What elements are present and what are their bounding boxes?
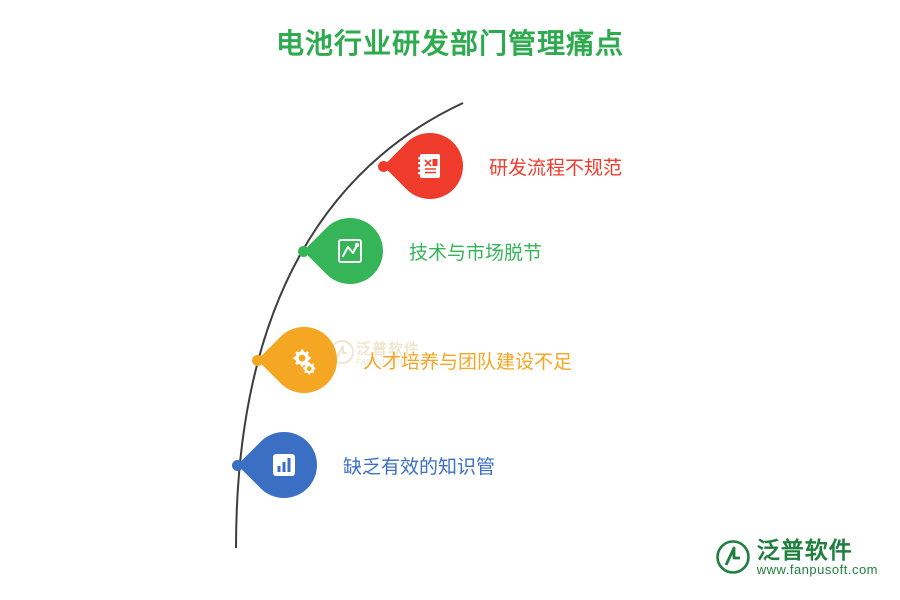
pain-point-item-4[interactable]: 缺乏有效的知识管	[232, 432, 495, 498]
pain-point-label-3: 人才培养与团队建设不足	[363, 347, 572, 374]
brand-mark-icon	[716, 540, 750, 574]
bar-chart-icon	[263, 444, 305, 486]
brand-logo: 泛普软件 www.fanpusoft.com	[716, 537, 878, 578]
pin-marker	[317, 218, 383, 284]
pin-marker	[271, 327, 337, 393]
arc-curve	[0, 0, 900, 600]
pin-marker	[251, 432, 317, 498]
brand-url: www.fanpusoft.com	[757, 563, 878, 578]
pain-point-item-3[interactable]: 人才培养与团队建设不足	[252, 327, 572, 393]
pain-point-label-4: 缺乏有效的知识管	[343, 452, 495, 479]
pain-point-item-2[interactable]: 技术与市场脱节	[298, 218, 542, 284]
pain-point-label-1: 研发流程不规范	[489, 153, 622, 180]
gears-icon	[283, 339, 325, 381]
document-chart-icon	[409, 145, 451, 187]
pin-marker	[397, 133, 463, 199]
pain-point-item-1[interactable]: 研发流程不规范	[378, 133, 622, 199]
trend-line-chart-icon	[329, 230, 371, 272]
pain-point-label-2: 技术与市场脱节	[409, 238, 542, 265]
brand-name: 泛普软件	[757, 537, 878, 563]
